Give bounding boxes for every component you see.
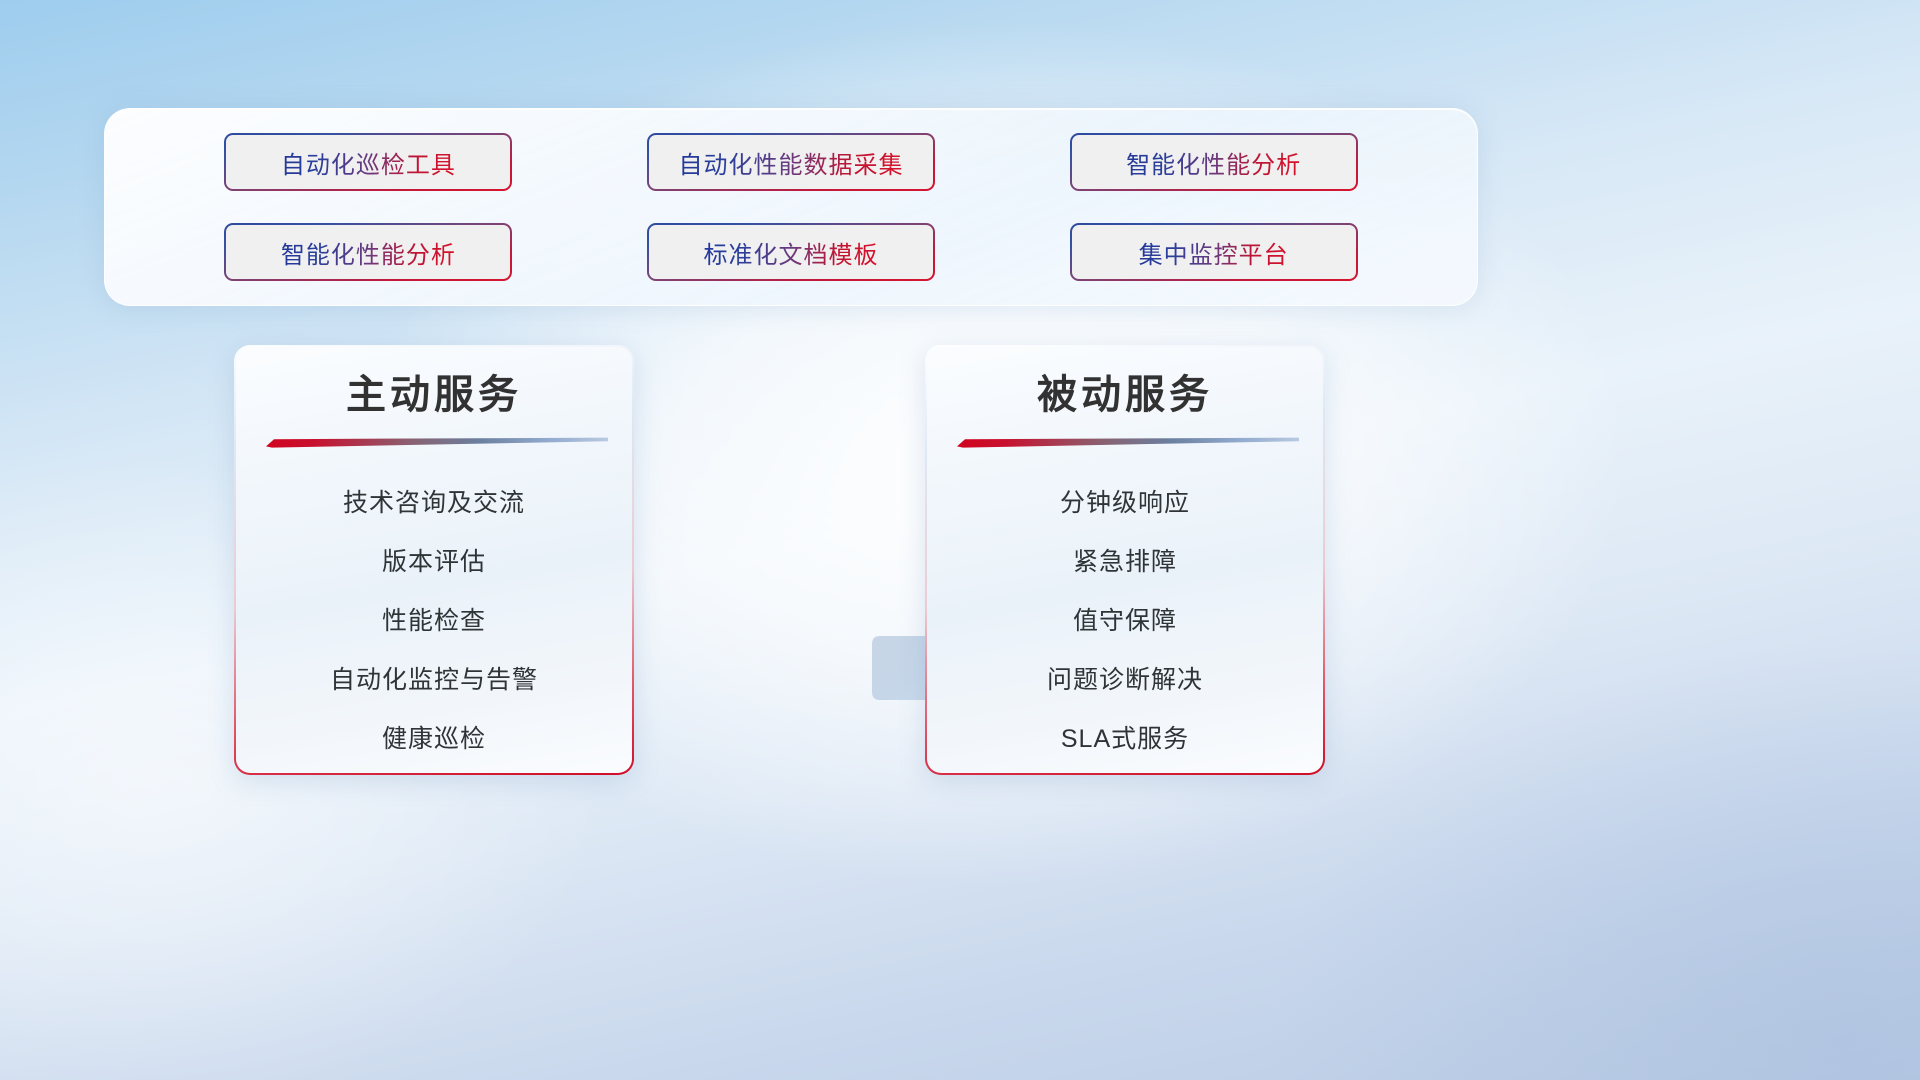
capability-pill-2[interactable]: 自动化性能数据采集	[647, 133, 935, 191]
capability-pill-label: 集中监控平台	[1139, 235, 1289, 270]
capability-pill-surface: 自动化性能数据采集	[649, 135, 933, 189]
card-divider-icon	[260, 437, 608, 449]
list-item: 紧急排障	[1073, 530, 1177, 589]
list-item: 健康巡检	[382, 707, 486, 766]
service-card-surface: 被动服务 分钟级响应 紧急排障 值守保障	[927, 347, 1323, 773]
capability-pill-surface: 集中监控平台	[1072, 225, 1356, 279]
capability-pill-label: 智能化性能分析	[1126, 145, 1301, 180]
capability-pill-label: 自动化性能数据采集	[678, 145, 903, 180]
capability-pill-surface: 标准化文档模板	[649, 225, 933, 279]
list-item: 性能检查	[382, 589, 486, 648]
list-item: 技术咨询及交流	[343, 471, 525, 530]
card-divider-icon	[951, 437, 1299, 449]
list-item: 自动化监控与告警	[330, 648, 538, 707]
slide-canvas: 自动化巡检工具 自动化性能数据采集 智能化性能分析 智能化性能分析 标准化文档模…	[0, 0, 1920, 1080]
service-card-list: 分钟级响应 紧急排障 值守保障 问题诊断解决 SLA式服务	[927, 471, 1323, 766]
capability-panel: 自动化巡检工具 自动化性能数据采集 智能化性能分析 智能化性能分析 标准化文档模…	[104, 108, 1478, 306]
list-item: 版本评估	[382, 530, 486, 589]
capability-pill-surface: 智能化性能分析	[1072, 135, 1356, 189]
capability-pill-3[interactable]: 智能化性能分析	[1070, 133, 1358, 191]
list-item: 问题诊断解决	[1047, 648, 1203, 707]
capability-pill-1[interactable]: 自动化巡检工具	[224, 133, 512, 191]
list-item: 值守保障	[1073, 589, 1177, 648]
capability-pill-surface: 智能化性能分析	[226, 225, 510, 279]
capability-pill-5[interactable]: 标准化文档模板	[647, 223, 935, 281]
list-item: SLA式服务	[1061, 707, 1189, 766]
capability-pill-4[interactable]: 智能化性能分析	[224, 223, 512, 281]
service-card-passive[interactable]: 被动服务 分钟级响应 紧急排障 值守保障	[925, 345, 1325, 775]
capability-pill-label: 自动化巡检工具	[281, 145, 456, 180]
capability-pill-surface: 自动化巡检工具	[226, 135, 510, 189]
service-card-list: 技术咨询及交流 版本评估 性能检查 自动化监控与告警 健康巡检	[236, 471, 632, 766]
service-card-active[interactable]: 主动服务 技术咨询及交流 版本评估 性能检查	[234, 345, 634, 775]
service-card-title: 主动服务	[346, 371, 522, 419]
service-card-title: 被动服务	[1037, 371, 1213, 419]
capability-pill-6[interactable]: 集中监控平台	[1070, 223, 1358, 281]
capability-pill-label: 标准化文档模板	[703, 235, 878, 270]
list-item: 分钟级响应	[1060, 471, 1190, 530]
service-card-surface: 主动服务 技术咨询及交流 版本评估 性能检查	[236, 347, 632, 773]
capability-pill-label: 智能化性能分析	[281, 235, 456, 270]
